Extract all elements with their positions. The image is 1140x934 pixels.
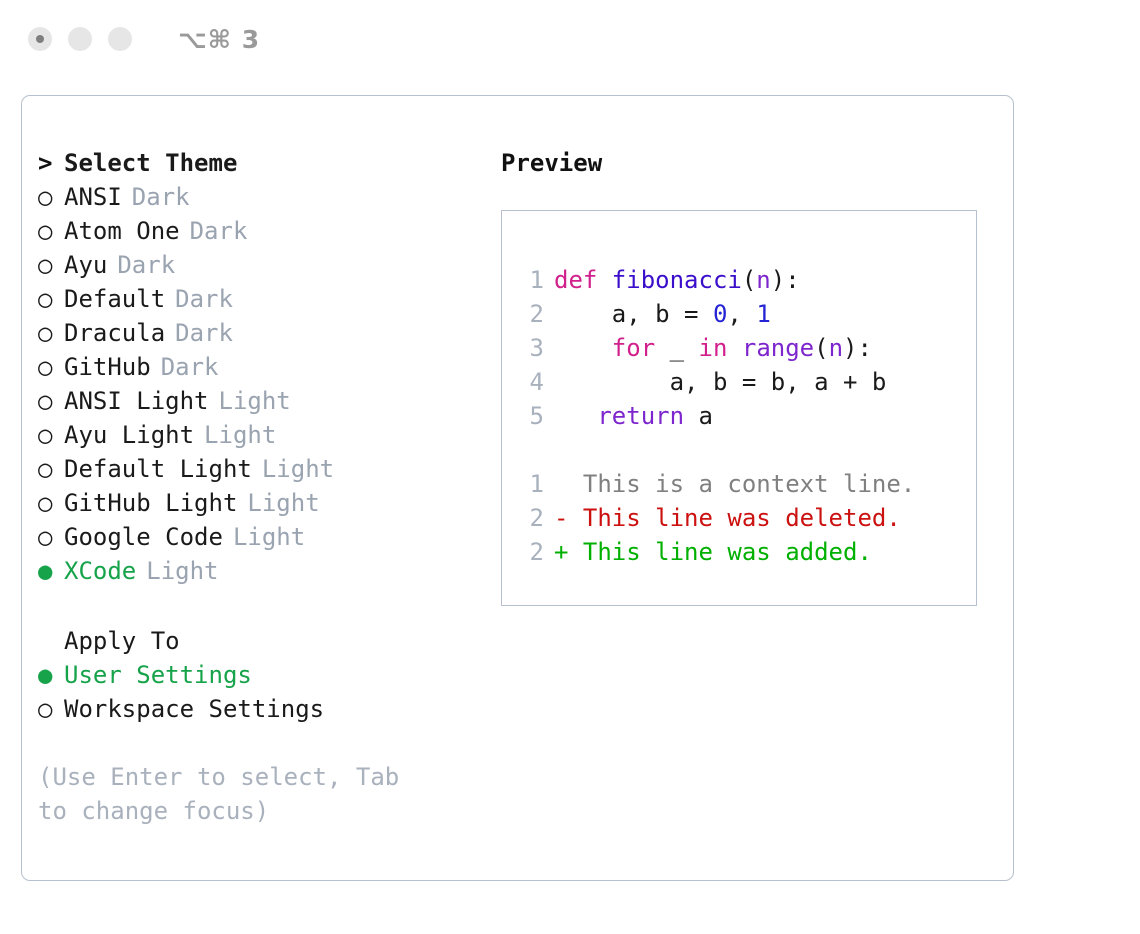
radio-selected-icon: ●	[38, 554, 64, 588]
radio-unselected-icon: ○	[38, 452, 64, 486]
theme-option-github[interactable]: ○GitHubDark	[38, 350, 478, 384]
select-theme-heading-label: Select Theme	[64, 146, 237, 180]
theme-option-variant: Light	[252, 452, 334, 486]
line-number: 5	[514, 399, 544, 433]
theme-option-variant: Dark	[151, 350, 219, 384]
radio-unselected-icon: ○	[38, 282, 64, 316]
theme-option-default[interactable]: ○DefaultDark	[38, 282, 478, 316]
code-token-plain: a	[684, 402, 713, 430]
theme-option-name: ANSI	[64, 180, 122, 214]
code-token-plain: _	[655, 334, 698, 362]
apply-to-heading-label: Apply To	[64, 624, 180, 658]
diff-line-content: This line was deleted.	[568, 501, 900, 535]
theme-option-name: GitHub	[64, 350, 151, 384]
window-dot-active-icon[interactable]	[28, 27, 52, 51]
theme-option-variant: Dark	[165, 282, 233, 316]
theme-option-variant: Light	[194, 418, 276, 452]
main-panel: > Select Theme ○ANSIDark○Atom OneDark○Ay…	[21, 95, 1014, 881]
code-token-plain: a, b =	[554, 300, 713, 328]
keyboard-shortcut-hint: ⌥⌘ 3	[178, 27, 260, 52]
theme-option-atom-one[interactable]: ○Atom OneDark	[38, 214, 478, 248]
diff-line-add: 2+ This line was added.	[514, 535, 970, 569]
diff-sign: -	[554, 501, 568, 535]
theme-option-variant: Dark	[165, 316, 233, 350]
diff-line-content: This is a context line.	[568, 467, 915, 501]
apply-to-section: ○ Apply To ●User Settings○Workspace Sett…	[38, 624, 478, 726]
code-block: 1def fibonacci(n):2 a, b = 0, 13 for _ i…	[514, 263, 970, 433]
preview-column: Preview 1def fibonacci(n):2 a, b = 0, 13…	[501, 146, 991, 606]
radio-unselected-icon: ○	[38, 418, 64, 452]
line-number: 1	[514, 467, 544, 501]
code-line: 2 a, b = 0, 1	[514, 297, 970, 331]
apply-to-option-workspace-settings[interactable]: ○Workspace Settings	[38, 692, 478, 726]
theme-option-ansi[interactable]: ○ANSIDark	[38, 180, 478, 214]
theme-option-variant: Dark	[180, 214, 248, 248]
diff-sign: +	[554, 535, 568, 569]
code-token-param: n	[829, 334, 843, 362]
preview-heading: Preview	[501, 146, 991, 180]
theme-option-name: Default Light	[64, 452, 252, 486]
code-token-plain: ,	[727, 300, 756, 328]
line-number: 2	[514, 297, 544, 331]
theme-option-variant: Dark	[107, 248, 175, 282]
theme-option-name: Atom One	[64, 214, 180, 248]
code-token-plain	[727, 334, 741, 362]
theme-option-name: XCode	[64, 554, 136, 588]
radio-unselected-icon: ○	[38, 350, 64, 384]
line-number: 2	[514, 501, 544, 535]
prompt-caret-icon: >	[38, 146, 64, 180]
theme-option-name: ANSI Light	[64, 384, 209, 418]
radio-unselected-icon: ○	[38, 180, 64, 214]
line-number: 1	[514, 263, 544, 297]
apply-to-option-label: User Settings	[64, 658, 252, 692]
theme-option-variant: Light	[136, 554, 218, 588]
preview-box: 1def fibonacci(n):2 a, b = 0, 13 for _ i…	[501, 210, 977, 606]
code-token-plain: a, b = b, a + b	[554, 368, 886, 396]
theme-option-default-light[interactable]: ○Default LightLight	[38, 452, 478, 486]
theme-option-github-light[interactable]: ○GitHub LightLight	[38, 486, 478, 520]
radio-unselected-icon: ○	[38, 214, 64, 248]
code-token-plain: ):	[843, 334, 872, 362]
radio-unselected-icon: ○	[38, 384, 64, 418]
theme-option-ayu-light[interactable]: ○Ayu LightLight	[38, 418, 478, 452]
theme-option-xcode[interactable]: ●XCodeLight	[38, 554, 478, 588]
line-number: 2	[514, 535, 544, 569]
code-line: 3 for _ in range(n):	[514, 331, 970, 365]
title-bar: ⌥⌘ 3	[0, 0, 1140, 78]
code-token-num: 1	[756, 300, 770, 328]
theme-selector-column: > Select Theme ○ANSIDark○Atom OneDark○Ay…	[38, 146, 478, 828]
theme-option-name: GitHub Light	[64, 486, 237, 520]
code-line: 5 return a	[514, 399, 970, 433]
code-line: 1def fibonacci(n):	[514, 263, 970, 297]
diff-line-del: 2- This line was deleted.	[514, 501, 970, 535]
code-line-content: for _ in range(n):	[554, 331, 872, 365]
code-token-plain	[554, 402, 597, 430]
code-token-builtin: return	[597, 402, 684, 430]
theme-option-variant: Dark	[122, 180, 190, 214]
code-token-kw: for	[612, 334, 655, 362]
theme-option-variant: Light	[209, 384, 291, 418]
theme-option-google-code[interactable]: ○Google CodeLight	[38, 520, 478, 554]
code-line: 4 a, b = b, a + b	[514, 365, 970, 399]
code-line-content: a, b = b, a + b	[554, 365, 886, 399]
code-token-num: 0	[713, 300, 727, 328]
window-dot-icon-2[interactable]	[68, 27, 92, 51]
code-token-plain: ):	[771, 266, 800, 294]
radio-unselected-icon: ○	[38, 520, 64, 554]
apply-to-option-label: Workspace Settings	[64, 692, 324, 726]
code-token-builtin: range	[742, 334, 814, 362]
code-token-plain: (	[814, 334, 828, 362]
theme-option-ansi-light[interactable]: ○ANSI LightLight	[38, 384, 478, 418]
radio-selected-icon: ●	[38, 658, 64, 692]
apply-to-heading: ○ Apply To	[38, 624, 478, 658]
apply-to-options: ●User Settings○Workspace Settings	[38, 658, 478, 726]
radio-unselected-icon: ○	[38, 248, 64, 282]
theme-option-name: Default	[64, 282, 165, 316]
code-token-plain: (	[742, 266, 756, 294]
window-dot-icon-3[interactable]	[108, 27, 132, 51]
diff-line-content: This line was added.	[568, 535, 871, 569]
code-diff-spacer	[514, 433, 970, 467]
code-token-fn: fibonacci	[612, 266, 742, 294]
diff-block: 1 This is a context line.2- This line wa…	[514, 467, 970, 569]
keyboard-hint-text: (Use Enter to select, Tab to change focu…	[38, 760, 438, 828]
app-window: ⌥⌘ 3 > Select Theme ○ANSIDark○Atom OneDa…	[0, 0, 1140, 934]
select-theme-heading: > Select Theme	[38, 146, 478, 180]
theme-option-name: Ayu	[64, 248, 107, 282]
radio-unselected-icon: ○	[38, 486, 64, 520]
diff-sign	[554, 467, 568, 501]
theme-option-variant: Light	[237, 486, 319, 520]
code-line-content: a, b = 0, 1	[554, 297, 771, 331]
theme-option-name: Google Code	[64, 520, 223, 554]
radio-unselected-icon: ○	[38, 316, 64, 350]
theme-list: ○ANSIDark○Atom OneDark○AyuDark○DefaultDa…	[38, 180, 478, 588]
code-token-param: n	[756, 266, 770, 294]
line-number: 3	[514, 331, 544, 365]
apply-to-option-user-settings[interactable]: ●User Settings	[38, 658, 478, 692]
line-number: 4	[514, 365, 544, 399]
radio-unselected-icon: ○	[38, 692, 64, 726]
code-token-plain	[554, 334, 612, 362]
diff-line-ctx: 1 This is a context line.	[514, 467, 970, 501]
code-token-kw: in	[699, 334, 728, 362]
theme-option-name: Ayu Light	[64, 418, 194, 452]
code-preview-area: 1def fibonacci(n):2 a, b = 0, 13 for _ i…	[514, 263, 970, 569]
theme-option-variant: Light	[223, 520, 305, 554]
theme-option-ayu[interactable]: ○AyuDark	[38, 248, 478, 282]
theme-option-name: Dracula	[64, 316, 165, 350]
code-token-kw: def	[554, 266, 612, 294]
theme-option-dracula[interactable]: ○DraculaDark	[38, 316, 478, 350]
code-line-content: return a	[554, 399, 713, 433]
code-line-content: def fibonacci(n):	[554, 263, 800, 297]
